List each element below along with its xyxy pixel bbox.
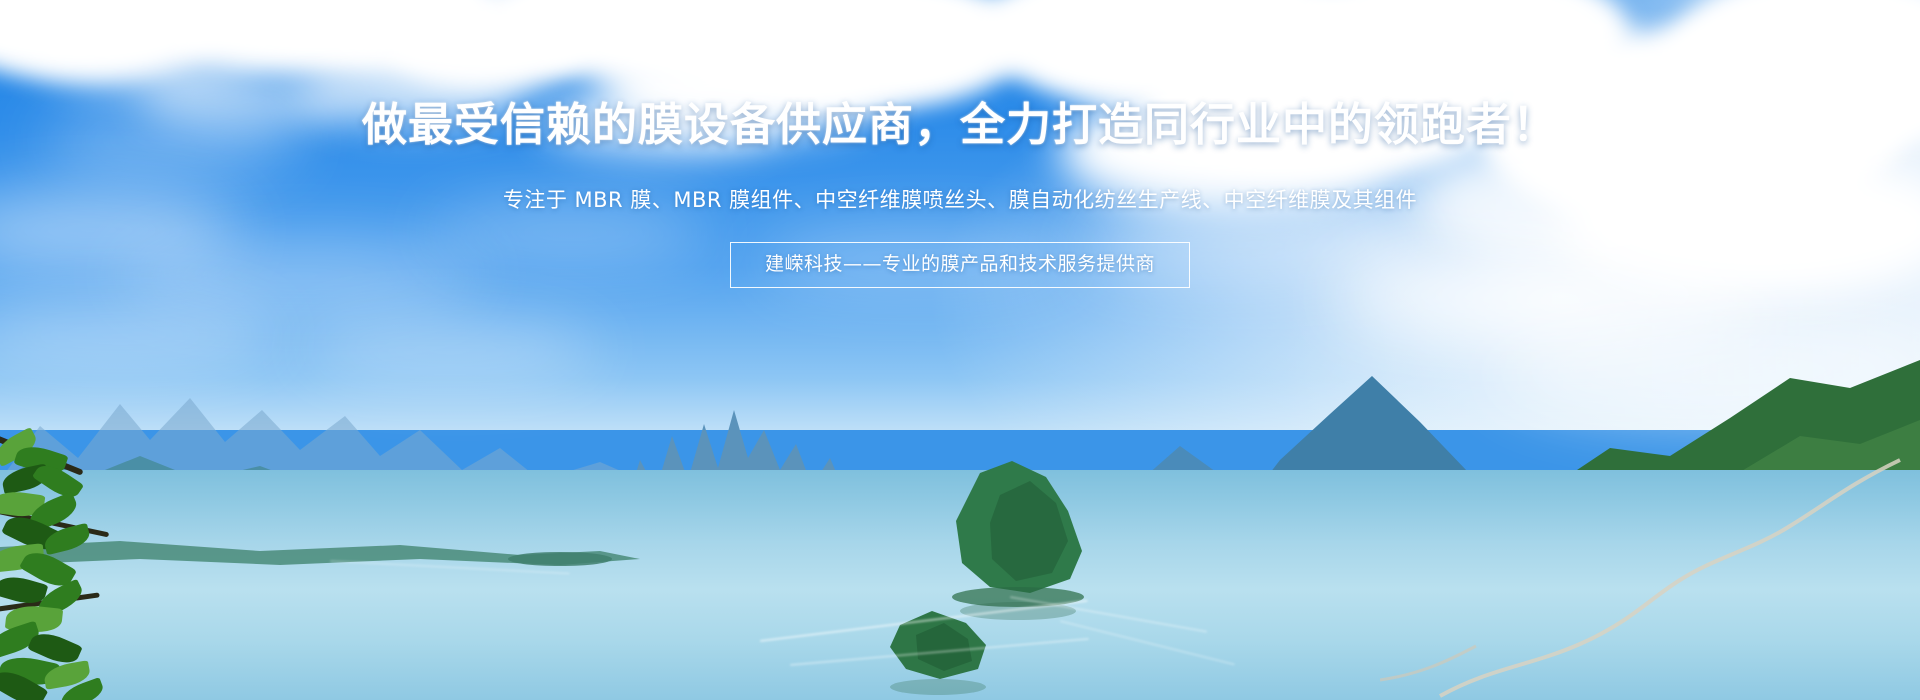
mountain-road xyxy=(1380,430,1920,700)
hero-banner: 做最受信赖的膜设备供应商，全力打造同行业中的领跑者！ 专注于 MBR 膜、MBR… xyxy=(0,0,1920,700)
